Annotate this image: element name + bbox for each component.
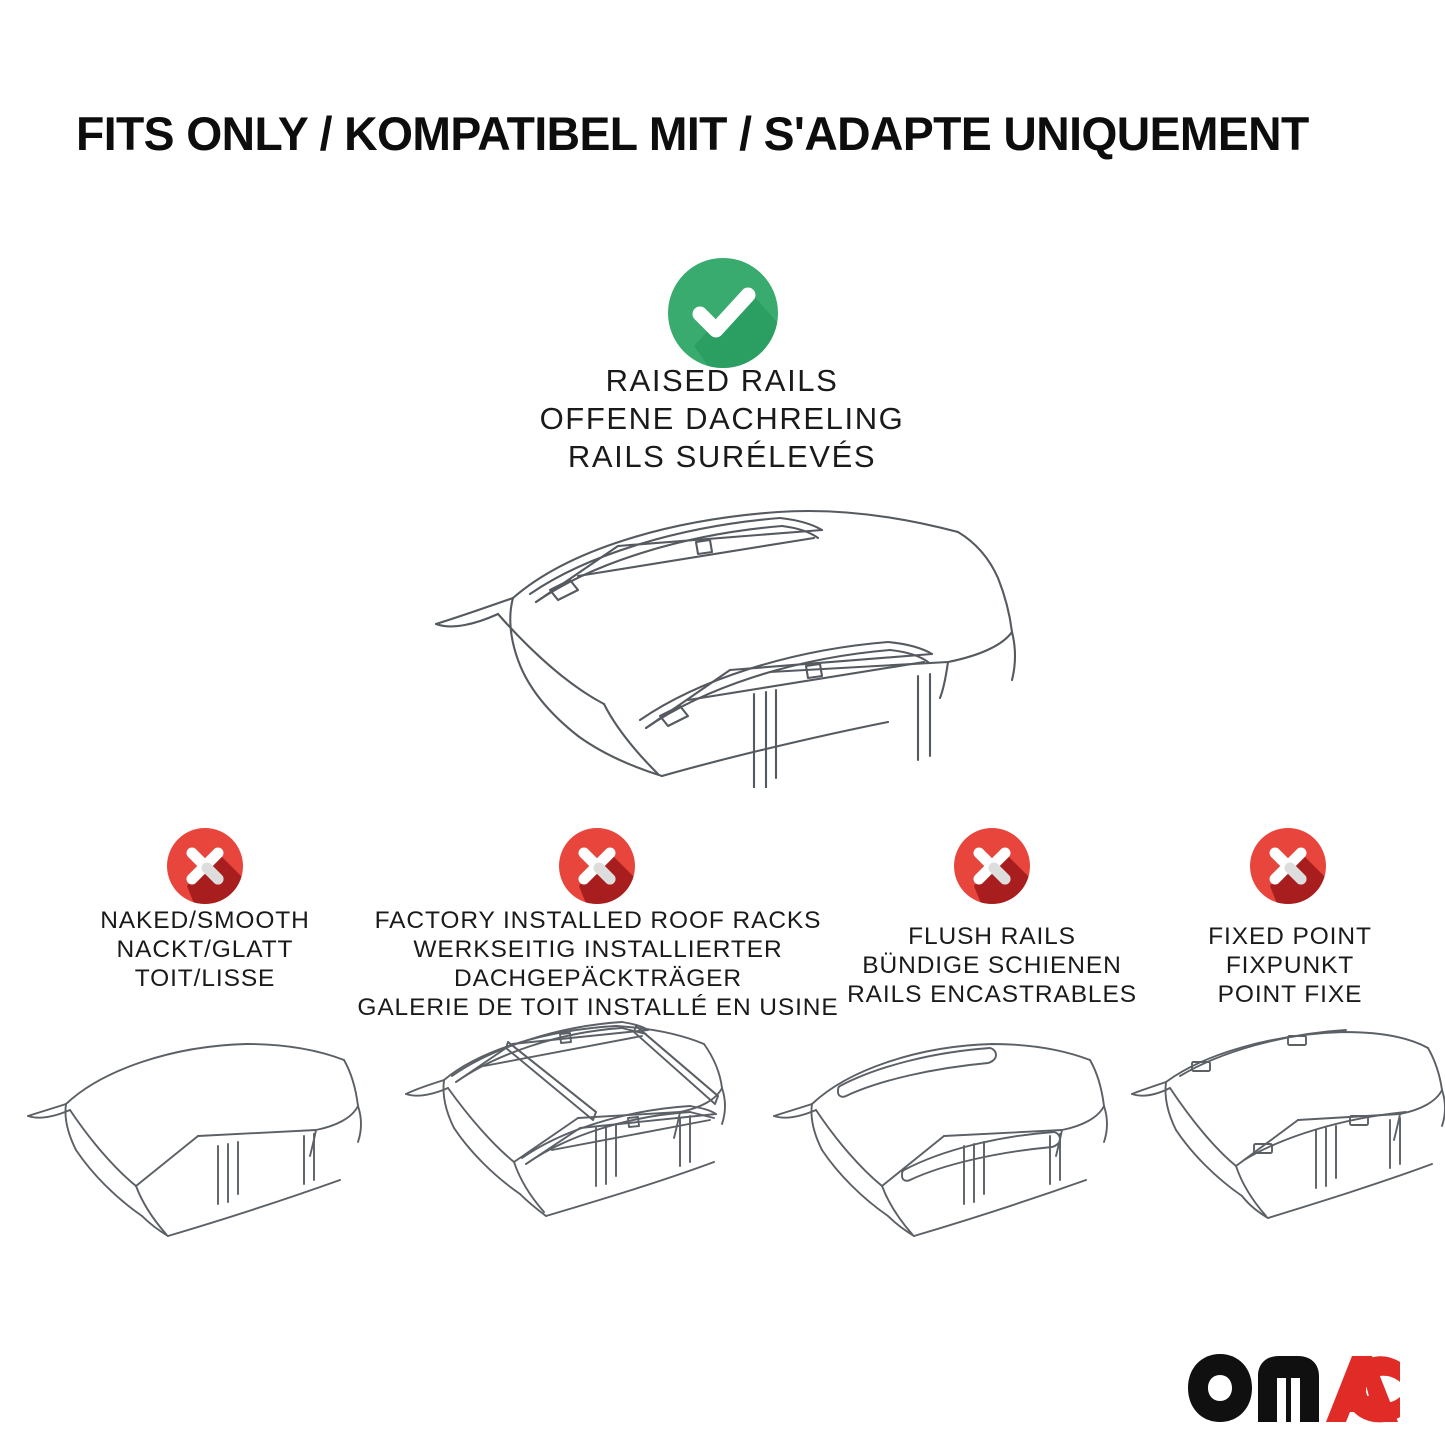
red-x-circle-icon-naked (165, 826, 245, 906)
compatible-label-fr: RAILS SURÉLEVÉS (372, 438, 1072, 476)
label-fixed-de: FIXPUNKT (1148, 951, 1432, 980)
logo-letter-o (1188, 1354, 1252, 1422)
label-naked-de: NACKT/GLATT (45, 935, 365, 964)
car-roof-fixed-point-drawing (1128, 1020, 1445, 1242)
compatible-label-en: RAISED RAILS (372, 362, 1072, 400)
car-roof-raised-rails-drawing (418, 498, 1028, 788)
red-x-circle-icon-factory (557, 826, 637, 906)
car-roof-factory-racks-drawing (388, 1004, 736, 1244)
label-flush-en: FLUSH RAILS (830, 922, 1154, 951)
car-roof-flush-rails-drawing (768, 1022, 1114, 1244)
omac-brand-logo (1186, 1352, 1402, 1424)
label-flush-de: BÜNDIGE SCHIENEN (830, 951, 1154, 980)
compatible-label-de: OFFENE DACHRELING (372, 400, 1072, 438)
green-check-circle-icon (664, 254, 782, 372)
incompatible-label-group-flush: FLUSH RAILS BÜNDIGE SCHIENEN RAILS ENCAS… (830, 922, 1154, 1009)
incompatible-label-group-fixed: FIXED POINT FIXPUNKT POINT FIXE (1148, 922, 1432, 1009)
label-factory-de1: WERKSEITIG INSTALLIERTER (342, 935, 854, 964)
label-fixed-en: FIXED POINT (1148, 922, 1432, 951)
red-x-circle-icon-fixed (1248, 826, 1328, 906)
label-fixed-fr: POINT FIXE (1148, 980, 1432, 1009)
compatibility-infographic: FITS ONLY / KOMPATIBEL MIT / S'ADAPTE UN… (0, 0, 1445, 1445)
car-roof-naked-drawing (22, 1022, 368, 1244)
label-factory-de2: DACHGEPÄCKTRÄGER (342, 964, 854, 993)
logo-letter-m (1258, 1356, 1319, 1422)
red-x-circle-icon-flush (952, 826, 1032, 906)
label-factory-en: FACTORY INSTALLED ROOF RACKS (342, 906, 854, 935)
label-flush-fr: RAILS ENCASTRABLES (830, 980, 1154, 1009)
compatible-label-group: RAISED RAILS OFFENE DACHRELING RAILS SUR… (372, 362, 1072, 476)
page-title: FITS ONLY / KOMPATIBEL MIT / S'ADAPTE UN… (76, 104, 1357, 164)
incompatible-label-group-naked: NAKED/SMOOTH NACKT/GLATT TOIT/LISSE (45, 906, 365, 993)
label-naked-en: NAKED/SMOOTH (45, 906, 365, 935)
label-naked-fr: TOIT/LISSE (45, 964, 365, 993)
